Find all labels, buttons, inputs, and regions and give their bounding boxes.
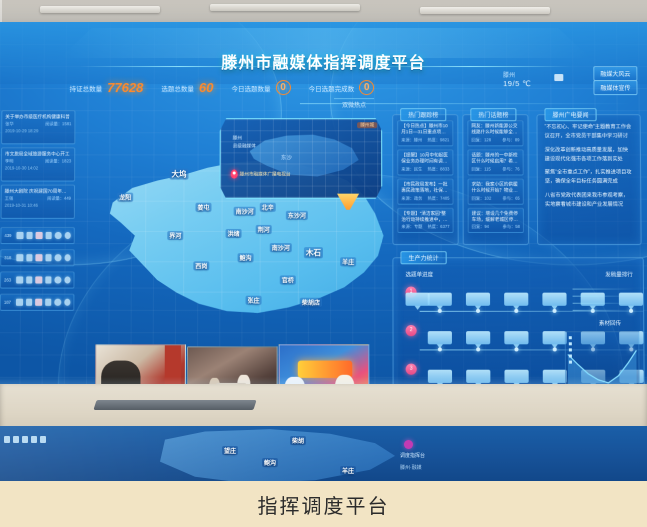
timeline-node[interactable] [542,293,566,306]
pen-icon [17,232,24,239]
item-meta-right: 参与：76 [502,166,519,172]
item-title: 建议：增设几个免费停车场，缓解老城区停车难的问题 [472,210,520,223]
card-title: 市文旅局全域旅游服务中心开工 [5,151,71,157]
grid-icon [13,436,19,443]
secondary-map [150,428,400,481]
card-date: 2019-10-31 10:46 [5,203,71,208]
item-title: 【提醒】10月中旬起医保业务办理时间有调整，市民可通过网上平台办理业务 [401,152,449,165]
map-label[interactable]: 西岗 [193,261,209,270]
list-item[interactable]: 话题：滕州的一中新校区什么时候启用？希望能了解到更详细的进展情况 回复：115 … [467,149,523,175]
panel-title: 生产力统计 [400,251,446,264]
article-paragraph: “不忘初心、牢记使命”主题教育工作会议召开，全市党员干部集中学习研讨 [545,123,633,141]
map-label[interactable]: 官桥 [280,275,296,284]
link-icon [54,276,61,283]
timeline-node[interactable] [543,331,567,344]
timeline-node[interactable] [466,293,490,306]
timeline-index: 3 [406,364,417,375]
article-paragraph: 聚焦“全市重点工作”，扎实推进项目攻坚，确保全年目标任务圆满完成 [545,169,633,187]
kpi-label: 今日选题数量 [231,83,270,93]
panel-title: 滕州广电要闻 [544,108,596,121]
image-icon [35,276,42,283]
card-author: 李明 [5,159,13,165]
item-meta-right: 参与：65 [502,195,519,201]
item-title: 话题：滕州的一中新校区什么时候启用？希望能了解到更详细的进展情况 [471,152,519,165]
map-label[interactable]: 龙阳 [117,193,133,202]
inset-line-2: 县级融媒体 [233,143,256,149]
card-views: 阅读量：449 [47,196,71,202]
topic-progress-label: 选题单进度 [405,270,433,278]
item-title: 求助：我家小区的供暖什么时候开始？物业一直没有给出明确答复 [472,181,520,194]
caption-bar: 指挥调度平台 [0,481,647,527]
item-meta-right: 热度：8833 [427,166,449,172]
item-meta-left: 来源：政务 [401,195,422,201]
panel-title: 热门话题榜 [470,108,516,121]
list-item[interactable]: 318 [0,249,75,266]
item-meta-left: 来源：民生 [401,166,422,172]
chart-icon [22,436,28,443]
mic-icon [64,232,71,239]
list-item[interactable]: 【市民政局发布】一批惠民政策落地，社保医保养老，每一项都和个人息息相关 来源：政… [397,178,453,204]
map-label[interactable]: 张庄 [245,296,261,305]
gear-icon [40,436,46,443]
dashboard-header: 滕州市融媒体指挥调度平台 [0,22,647,84]
doc-icon [26,299,33,306]
video-icon [45,276,52,283]
map-label[interactable]: 木石 [304,247,323,258]
item-meta-left: 回复：102 [472,195,492,201]
map-label[interactable]: 大坞 [169,168,188,179]
led-video-wall: 滕州市融媒体指挥调度平台 持证总数量 77628 选题总数量 60 今日选题数量… [0,22,647,393]
doc-icon [26,254,33,261]
weather-temp: 19/5 ℃ [503,79,531,88]
item-meta-right: 热度：7405 [428,195,450,201]
kpi-today-topics: 今日选题数量 0 [231,80,290,95]
secondary-toolbar[interactable] [4,436,46,443]
link-icon [54,299,61,306]
mic-icon [64,254,71,261]
video-icon [45,299,52,306]
doc-icon [26,276,33,283]
publish-rank-list[interactable] [573,283,636,317]
weather-city: 滕州 [503,70,531,79]
row-count: 318 [4,255,13,260]
list-item[interactable]: 【今日热点】滕州市10月1日—31日重点项目建设情况通报，今年一批重点工程完工 … [397,120,453,146]
timeline-node[interactable] [504,331,528,344]
timeline-node[interactable] [406,293,430,306]
desk-cable-slot [93,400,256,410]
video-icon [45,254,52,261]
image-icon [36,232,43,239]
card-author: 张华 [5,121,13,127]
map-label[interactable]: 东沙河 [286,211,308,220]
article-paragraph: 深化改革创新推动高质量发展，加快建设现代化强市各项工作落到实处 [545,146,633,164]
card-views: 阅读量：1581 [45,121,71,127]
map-label[interactable]: 南沙河 [270,243,292,252]
kpi-value: 77628 [107,80,143,95]
card-title: 关于举办市级医疗机构健康科普 [5,114,71,120]
list-item[interactable]: 【专题】“清洁家园”整治行动持续推进中，全市上下齐心打好环境攻坚“战” 来源：专… [397,207,453,233]
hotspot-label: 双微热点 [334,98,374,110]
item-meta-right: 热度：6377 [428,224,450,230]
list-item[interactable]: 关于举办市级医疗机构健康科普 张华 阅读量：1581 2019-10-29 18… [1,110,75,144]
list-item[interactable]: 市文旅局全域旅游服务中心开工 李明 阅读量：1823 2019-10-30 14… [1,147,75,181]
row-count: 187 [4,300,13,305]
district-map[interactable]: 大坞 龙阳 姜屯 南沙河 北辛 东沙河 界河 洪绪 荆河 南沙河 木石 羊庄 西… [106,110,388,327]
kpi-label: 今日选题完成数 [309,83,355,93]
map-label[interactable]: 界河 [167,231,183,240]
doc-icon [26,232,33,239]
map-label[interactable]: 羊庄 [340,257,356,266]
row-count: 439 [4,233,13,238]
secondary-display: 望庄 鲍沟 柴胡 羊庄 调度指挥台 滕州·融媒 [0,426,647,481]
mic-icon [64,299,71,306]
kpi-licensed-total: 持证总数量 77628 [70,80,144,95]
kpi-strip: 持证总数量 77628 选题总数量 60 今日选题数量 0 今日选题完成数 0 [70,80,375,95]
map-label[interactable]: 荆河 [256,225,272,234]
image-icon [35,299,42,306]
kpi-value: 60 [199,80,214,95]
kpi-topic-total: 选题总数量 60 [161,80,213,95]
topbar-indicator-icon [554,74,563,81]
timeline-node[interactable] [504,293,528,306]
productivity-panel: 生产力统计 选题单进度 发稿量排行 1 [392,257,644,393]
timeline-node[interactable] [428,331,452,344]
panel-title: 热门跟踪榜 [400,108,446,121]
map-label: 羊庄 [340,466,356,475]
item-title: 网友：滕州新能源公交线路什么时候能够全面覆盖到各镇街？ [471,123,519,136]
list-item[interactable]: 求助：我家小区的供暖什么时候开始？物业一直没有给出明确答复 回复：102 参与：… [468,178,524,204]
map-label: 望庄 [222,446,238,455]
mic-icon [64,276,71,283]
inset-line-1: 滕州 [233,135,242,141]
map-label[interactable]: 洪绪 [226,229,242,238]
item-meta-right: 参与：89 [502,137,519,143]
map-label[interactable]: 南沙河 [234,207,256,216]
timeline-node[interactable] [466,331,490,344]
publish-rank-label: 发稿量排行 [605,270,633,278]
video-icon [45,232,52,239]
item-meta-left: 回复：94 [472,224,489,230]
kpi-value: 0 [276,80,291,95]
caption-text: 指挥调度平台 [258,490,390,519]
map-label: 鲍沟 [262,458,278,467]
article-paragraph: 八省市党政代表团来我市参观考察，实地察看城市建设和产业发展情况 [545,192,633,210]
map-label[interactable]: 柴胡店 [300,298,322,307]
item-meta-left: 回复：128 [471,137,491,143]
location-pin-icon [231,169,238,178]
item-title: 【市民政局发布】一批惠民政策落地，社保医保养老，每一项都和个人息息相关 [401,181,449,194]
row-count: 263 [4,277,13,282]
list-item[interactable]: 建议：增设几个免费停车场，缓解老城区停车难的问题 回复：94 参与：58 [468,207,524,233]
list-item[interactable]: 网友：滕州新能源公交线路什么时候能够全面覆盖到各镇街？ 回复：128 参与：89 [467,120,523,146]
item-title: 【专题】“清洁家园”整治行动持续推进中，全市上下齐心打好环境攻坚“战” [401,210,449,223]
list-item[interactable]: 187 [0,294,74,311]
weather-widget: 滕州 19/5 ℃ [503,70,531,88]
list-item[interactable]: 263 [0,271,75,288]
item-meta-left: 来源：滕州 [401,137,422,143]
inset-tag: 滕州城 [357,122,377,128]
item-meta-left: 来源：专题 [401,224,422,230]
inset-detail-map[interactable]: 滕州城 滕州 县级融媒体 东沙 滕州市融媒体广播电视台 [220,118,383,198]
kpi-label: 选题总数量 [161,83,194,93]
menu-icon [4,436,10,443]
card-date: 2019-10-29 18:29 [5,128,71,133]
secondary-sublabel: 滕州·融媒 [400,464,422,471]
map-pin-group[interactable]: 滕州市融媒体广播电视台 [231,169,291,178]
inset-landmass [250,132,359,181]
hot-topic-panel[interactable]: 热门话题榜 网友：滕州新能源公交线路什么时候能够全面覆盖到各镇街？ 回复：128… [462,114,529,245]
link-icon [55,232,62,239]
page-title: 滕州市融媒体指挥调度平台 [0,49,647,73]
pen-icon [16,299,23,306]
map-label[interactable]: 北辛 [260,203,276,212]
item-meta-left: 回复：115 [471,166,490,172]
map-label[interactable]: 姜屯 [195,203,211,212]
item-meta-right: 热度：9821 [427,137,449,143]
list-item[interactable]: 滕州大剧院 庆祝建国70周年书画展览 王强 阅读量：449 2019-10-31… [1,185,76,219]
map-label: 柴胡 [290,436,306,445]
pin-label: 滕州市融媒体广播电视台 [240,171,291,177]
kpi-today-completed: 今日选题完成数 0 [309,80,375,95]
card-title: 滕州大剧院 庆祝建国70周年书画展览 [5,189,71,195]
secondary-label: 调度指挥台 [400,452,425,459]
screenshot-root: 滕州市融媒体指挥调度平台 持证总数量 77628 选题总数量 60 今日选题数量… [0,0,647,527]
pen-icon [16,276,23,283]
topbar-button-1[interactable]: 融媒大风云 [593,66,637,81]
image-icon [36,254,43,261]
card-author: 王强 [5,196,13,202]
news-article-panel[interactable]: 滕州广电要闻 “不忘初心、牢记使命”主题教育工作会议召开，全市党员干部集中学习研… [536,114,641,245]
card-date: 2019-10-30 14:02 [5,166,71,171]
kpi-value: 0 [359,80,374,95]
topbar-button-2[interactable]: 融媒体宣传 [593,80,637,95]
card-views: 阅读量：1823 [45,159,71,165]
material-chart-title: 素材回传 [599,319,621,327]
pen-icon [17,254,24,261]
timeline-node[interactable] [428,293,452,306]
link-icon [55,254,62,261]
timeline-index: 2 [406,325,417,336]
status-badge [404,440,413,449]
kpi-label: 持证总数量 [70,83,103,93]
item-title: 【今日热点】滕州市10月1日—31日重点项目建设情况通报，今年一批重点工程完工 [401,123,449,136]
list-item[interactable]: 439 [0,227,74,244]
hot-tracking-panel[interactable]: 热门跟踪榜 【今日热点】滕州市10月1日—31日重点项目建设情况通报，今年一批重… [392,114,459,245]
inset-line-3: 东沙 [281,153,292,161]
list-icon [31,436,37,443]
map-label[interactable]: 鲍沟 [238,253,254,262]
list-item[interactable]: 【提醒】10月中旬起医保业务办理时间有调整，市民可通过网上平台办理业务 来源：民… [397,149,453,175]
item-meta-right: 参与：58 [503,224,520,230]
